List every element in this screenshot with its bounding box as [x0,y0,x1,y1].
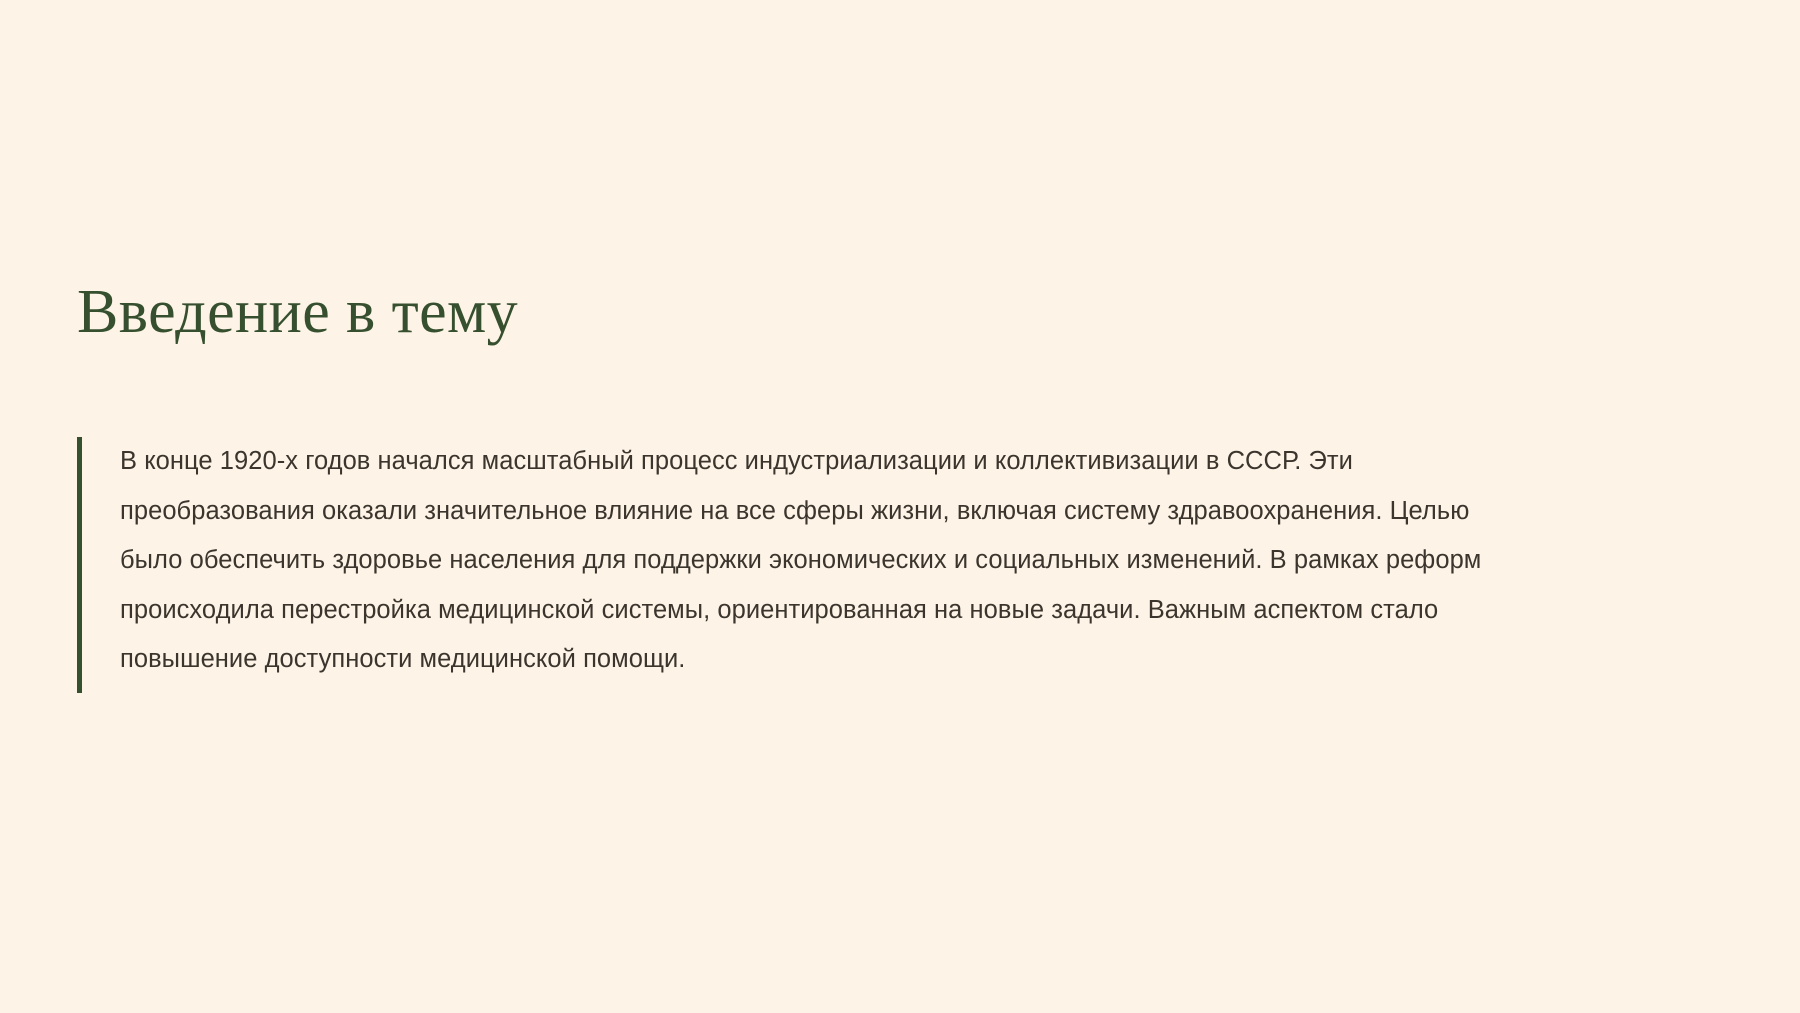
body-paragraph: В конце 1920-х годов начался масштабный … [82,437,1520,693]
page-title: Введение в тему [77,278,518,347]
presentation-slide: Введение в тему В конце 1920-х годов нач… [0,0,1800,1013]
body-content-block: В конце 1920-х годов начался масштабный … [77,437,1727,693]
